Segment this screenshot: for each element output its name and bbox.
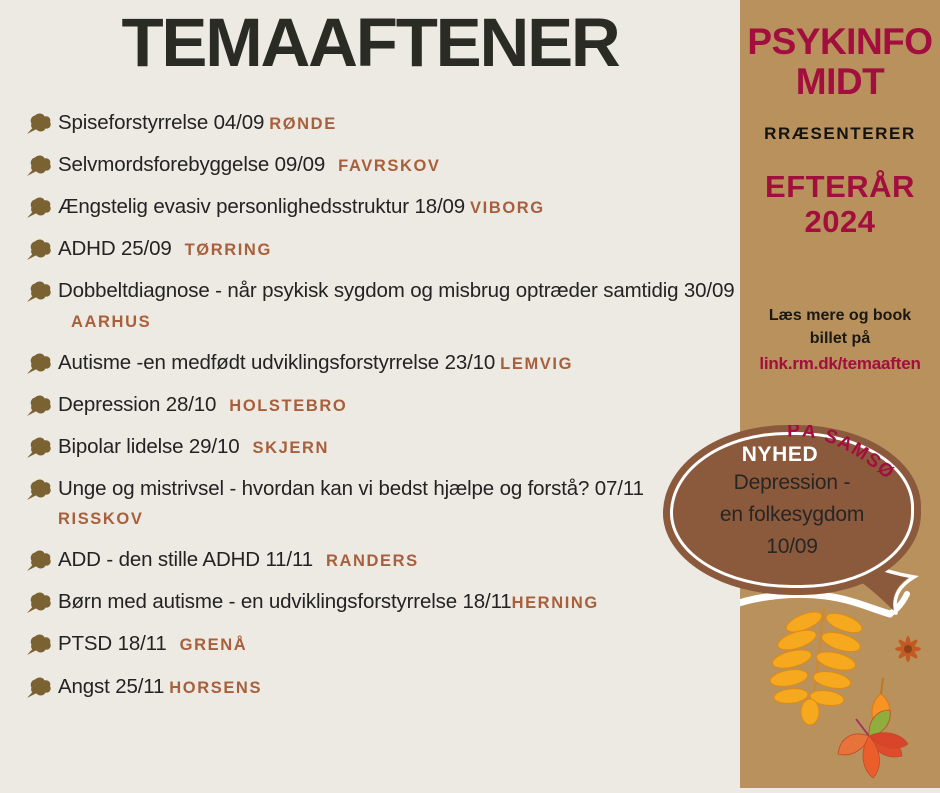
pushpin-icon: [24, 194, 58, 221]
event-title: ADHD 25/09: [58, 237, 172, 260]
event-body: Børn med autisme - en udviklingsforstyrr…: [58, 587, 740, 616]
pushpin-icon: [24, 392, 58, 419]
brand-name-line-1: PSYKINFO: [740, 0, 940, 62]
page-title: TEMAAFTENER: [0, 8, 740, 77]
event-body: ADHD 25/09TØRRING: [58, 234, 740, 263]
presents-label: RRÆSENTERER: [740, 124, 940, 144]
event-title: Unge og mistrivsel - hvordan kan vi beds…: [58, 477, 644, 500]
event-city: HERNING: [512, 594, 599, 612]
event-city: GRENÅ: [180, 636, 248, 654]
pushpin-icon: [24, 278, 54, 304]
booking-url-link[interactable]: link.rm.dk/temaaften: [754, 351, 926, 377]
pushpin-icon: [24, 236, 58, 263]
event-row[interactable]: Børn med autisme - en udviklingsforstyrr…: [24, 587, 740, 616]
event-title: Børn med autisme - en udviklingsforstyrr…: [58, 590, 512, 613]
bubble-line-3: 10/09: [663, 531, 921, 563]
sidebar: PSYKINFO MIDT RRÆSENTERER EFTERÅR 2024 L…: [740, 0, 940, 788]
pushpin-icon: [24, 350, 58, 377]
event-row[interactable]: Ængstelig evasiv personlighedsstruktur 1…: [24, 192, 740, 221]
event-title: Angst 25/11: [58, 675, 164, 698]
event-row[interactable]: PTSD 18/11GRENÅ: [24, 629, 740, 658]
event-body: ADD - den stille ADHD 11/11RANDERS: [58, 545, 740, 574]
event-city: TØRRING: [185, 241, 272, 259]
event-city: RISSKOV: [58, 510, 143, 528]
event-city: RANDERS: [326, 552, 419, 570]
event-body: PTSD 18/11GRENÅ: [58, 629, 740, 658]
event-city: VIBORG: [470, 199, 545, 217]
event-title: Depression 28/10: [58, 393, 216, 416]
pushpin-icon: [24, 194, 54, 220]
pushpin-icon: [24, 152, 58, 179]
event-city: LEMVIG: [500, 355, 573, 373]
pushpin-icon: [24, 547, 54, 573]
event-title: Spiseforstyrrelse 04/09: [58, 111, 264, 134]
booking-info: Læs mere og book billet på link.rm.dk/te…: [740, 305, 940, 376]
event-city: RØNDE: [269, 115, 337, 133]
event-row[interactable]: Unge og mistrivsel - hvordan kan vi beds…: [24, 474, 740, 532]
pushpin-icon: [24, 674, 58, 701]
event-title: Bipolar lidelse 29/10: [58, 435, 239, 458]
pa-samso-text: PÅ SAMSØ: [787, 425, 899, 484]
pushpin-icon: [24, 434, 54, 460]
event-city: AARHUS: [71, 313, 151, 331]
season-label: EFTERÅR: [740, 170, 940, 205]
pa-samso-curved-label: PÅ SAMSØ: [781, 425, 931, 505]
pushpin-icon: [24, 547, 58, 574]
booking-line-1: Læs mere og book: [754, 305, 926, 328]
event-body: Bipolar lidelse 29/10SKJERN: [58, 432, 740, 461]
year-label: 2024: [740, 205, 940, 240]
event-body: Unge og mistrivsel - hvordan kan vi beds…: [58, 474, 740, 532]
event-row[interactable]: ADD - den stille ADHD 11/11RANDERS: [24, 545, 740, 574]
news-speech-bubble: NYHED Depression - en folkesygdom 10/09 …: [663, 425, 940, 635]
event-city: HOLSTEBRO: [229, 397, 347, 415]
pushpin-icon: [24, 674, 54, 700]
pushpin-icon: [24, 589, 54, 615]
pushpin-icon: [24, 110, 54, 136]
event-row[interactable]: Autisme -en medfødt udviklingsforstyrrel…: [24, 348, 740, 377]
pushpin-icon: [24, 278, 58, 305]
event-body: Dobbeltdiagnose - når psykisk sygdom og …: [58, 276, 740, 334]
event-body: Ængstelig evasiv personlighedsstruktur 1…: [58, 192, 740, 221]
event-list: Spiseforstyrrelse 04/09RØNDE Selvmordsfo…: [24, 108, 740, 714]
pushpin-icon: [24, 392, 54, 418]
pushpin-icon: [24, 236, 54, 262]
event-title: Autisme -en medfødt udviklingsforstyrrel…: [58, 351, 495, 374]
pushpin-icon: [24, 476, 54, 502]
event-body: Selvmordsforebyggelse 09/09FAVRSKOV: [58, 150, 740, 179]
event-row[interactable]: Bipolar lidelse 29/10SKJERN: [24, 432, 740, 461]
event-title: Dobbeltdiagnose - når psykisk sygdom og …: [58, 279, 734, 302]
event-body: Autisme -en medfødt udviklingsforstyrrel…: [58, 348, 740, 377]
event-title: Selvmordsforebyggelse 09/09: [58, 153, 325, 176]
event-body: Spiseforstyrrelse 04/09RØNDE: [58, 108, 740, 137]
event-body: Angst 25/11HORSENS: [58, 672, 740, 701]
pushpin-icon: [24, 110, 58, 137]
event-title: ADD - den stille ADHD 11/11: [58, 548, 313, 571]
pushpin-icon: [24, 589, 58, 616]
event-body: Depression 28/10HOLSTEBRO: [58, 390, 740, 419]
pushpin-icon: [24, 476, 58, 503]
brand-name-line-2: MIDT: [740, 62, 940, 102]
booking-line-2: billet på: [754, 328, 926, 351]
pushpin-icon: [24, 350, 54, 376]
event-row[interactable]: Dobbeltdiagnose - når psykisk sygdom og …: [24, 276, 740, 334]
event-row[interactable]: Spiseforstyrrelse 04/09RØNDE: [24, 108, 740, 137]
pushpin-icon: [24, 631, 54, 657]
event-title: Ængstelig evasiv personlighedsstruktur 1…: [58, 195, 465, 218]
pushpin-icon: [24, 631, 58, 658]
event-city: FAVRSKOV: [338, 157, 440, 175]
event-row[interactable]: Selvmordsforebyggelse 09/09FAVRSKOV: [24, 150, 740, 179]
event-city: HORSENS: [169, 679, 262, 697]
event-row[interactable]: Angst 25/11HORSENS: [24, 672, 740, 701]
event-title: PTSD 18/11: [58, 632, 167, 655]
pushpin-icon: [24, 152, 54, 178]
pushpin-icon: [24, 434, 58, 461]
event-row[interactable]: Depression 28/10HOLSTEBRO: [24, 390, 740, 419]
event-row[interactable]: ADHD 25/09TØRRING: [24, 234, 740, 263]
poster-canvas: TEMAAFTENER Spiseforstyrrelse 04/09RØNDE…: [0, 0, 940, 788]
event-city: SKJERN: [252, 439, 329, 457]
